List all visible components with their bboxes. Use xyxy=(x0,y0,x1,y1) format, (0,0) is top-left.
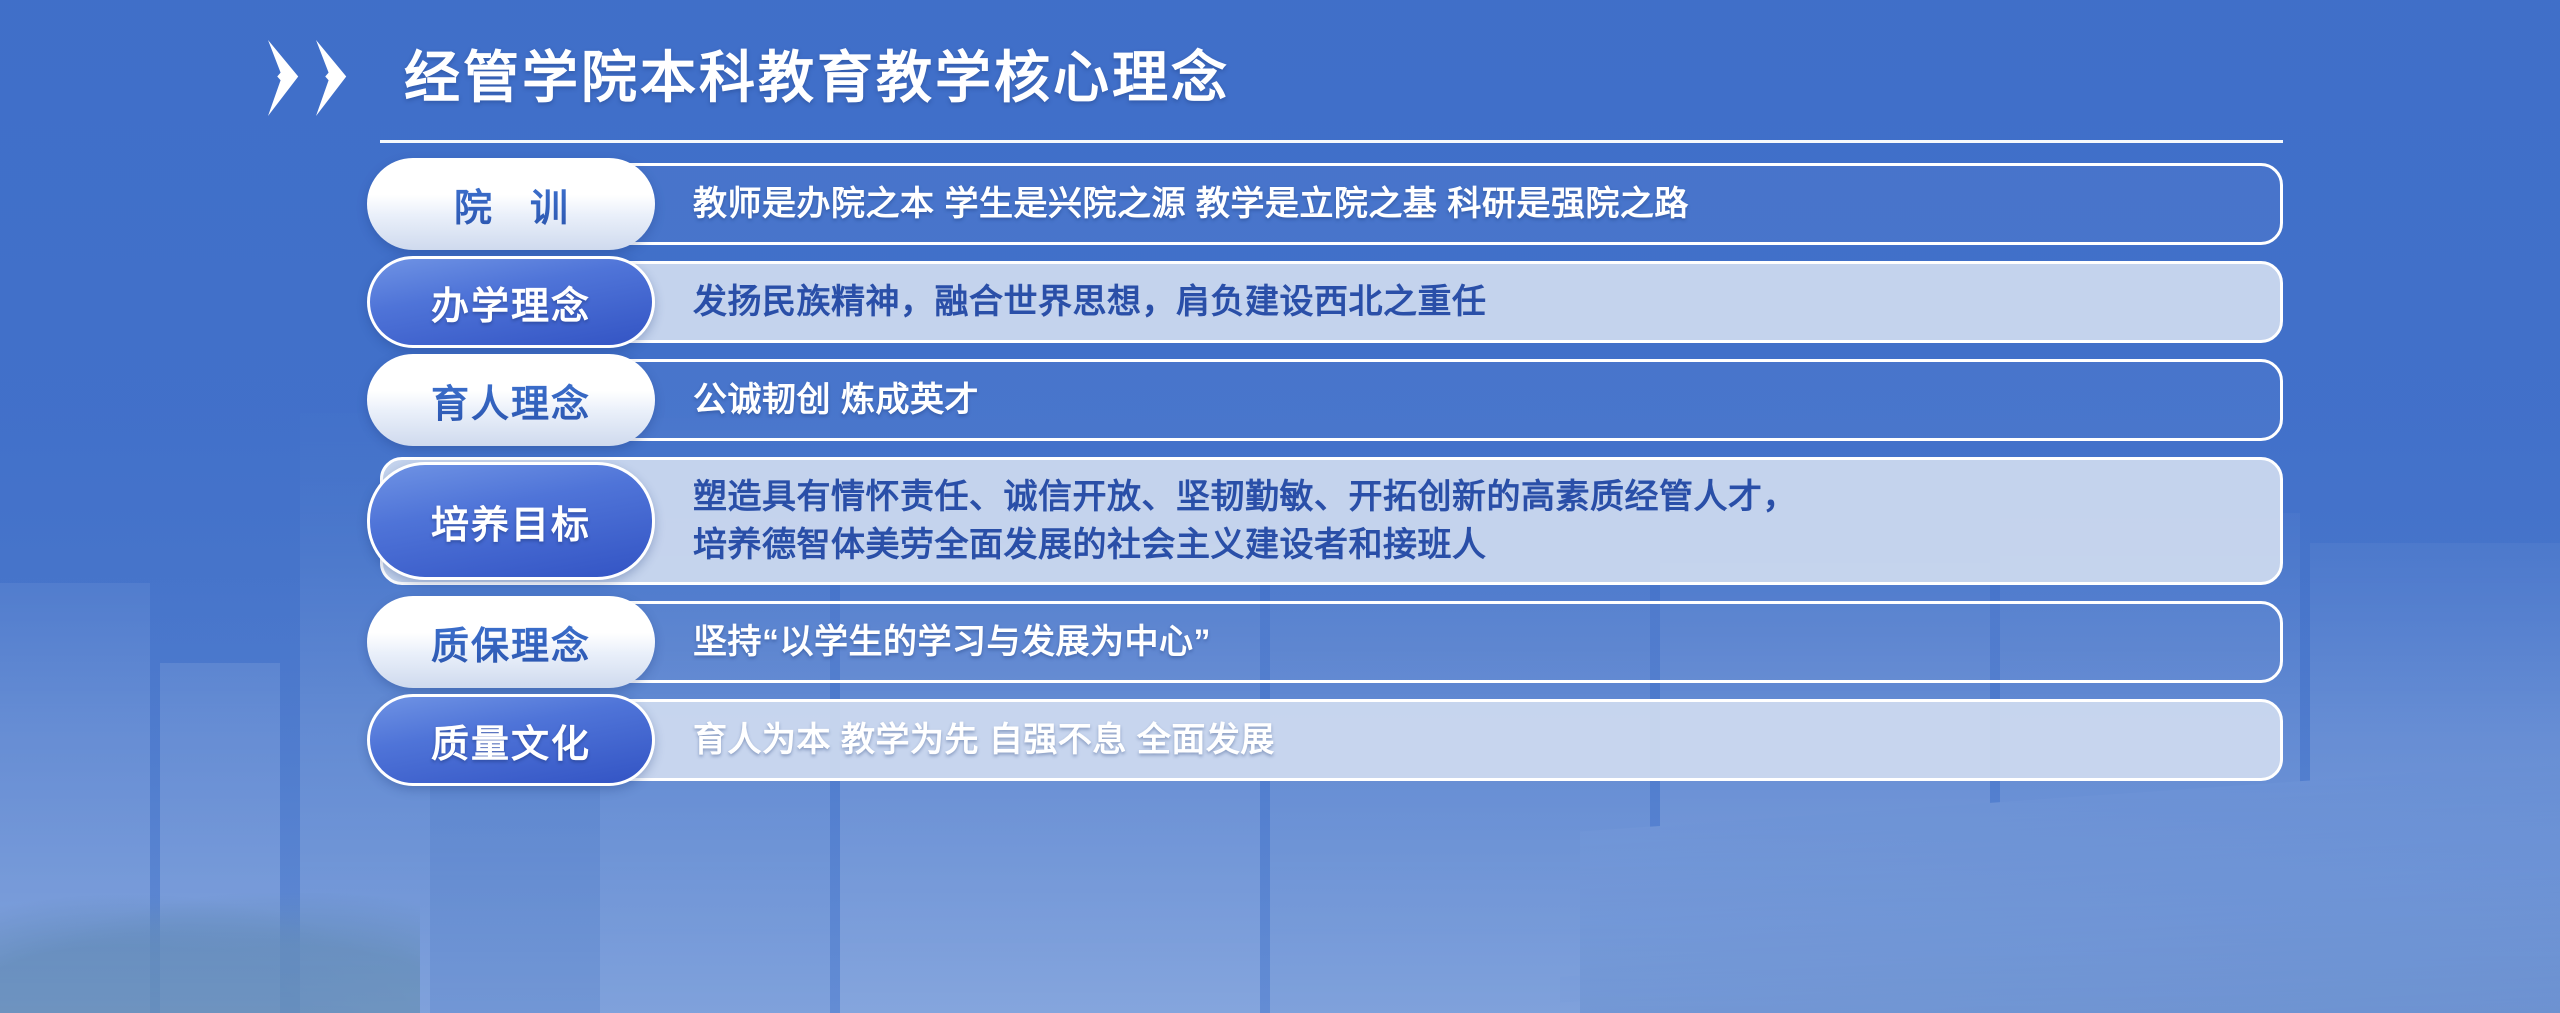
concept-label-text: 育人理念 xyxy=(431,373,591,428)
concept-content-line: 坚持“以学生的学习与发展为中心” xyxy=(693,618,1211,666)
concept-content: 坚持“以学生的学习与发展为中心” xyxy=(693,618,1241,666)
concept-label-text: 质量文化 xyxy=(431,713,591,768)
concept-label-badge[interactable]: 育人理念 xyxy=(367,354,655,446)
concept-content-line: 塑造具有情怀责任、诚信开放、坚韧勤敏、开拓创新的高素质经管人才， xyxy=(693,473,1797,521)
concept-label-text: 办学理念 xyxy=(431,275,591,330)
concept-content: 教师是办院之本 学生是兴院之源 教学是立院之基 科研是强院之路 xyxy=(693,180,1719,228)
concept-row[interactable]: 育人理念 公诚韧创 炼成英才 xyxy=(380,359,2283,441)
concept-label-text: 院训 xyxy=(416,177,606,232)
page-title: 经管学院本科教育教学核心理念 xyxy=(404,50,1230,106)
chevron-right-icon-2 xyxy=(316,40,358,116)
concept-content-line: 发扬民族精神，融合世界思想，肩负建设西北之重任 xyxy=(693,278,1487,326)
concept-content: 育人为本 教学为先 自强不息 全面发展 xyxy=(693,716,1305,764)
concept-content: 发扬民族精神，融合世界思想，肩负建设西北之重任 xyxy=(693,278,1517,326)
concept-row[interactable]: 院训 教师是办院之本 学生是兴院之源 教学是立院之基 科研是强院之路 xyxy=(380,163,2283,245)
concept-content-line: 公诚韧创 炼成英才 xyxy=(693,376,979,424)
concept-label-text: 培养目标 xyxy=(431,494,591,549)
concept-row[interactable]: 培养目标 塑造具有情怀责任、诚信开放、坚韧勤敏、开拓创新的高素质经管人才， 培养… xyxy=(380,457,2283,585)
concept-label-badge[interactable]: 质量文化 xyxy=(367,694,655,786)
concept-content-line: 教师是办院之本 学生是兴院之源 教学是立院之基 科研是强院之路 xyxy=(693,180,1689,228)
page-header: 经管学院本科教育教学核心理念 xyxy=(268,40,1230,116)
concept-row[interactable]: 质保理念 坚持“以学生的学习与发展为中心” xyxy=(380,601,2283,683)
concept-row[interactable]: 办学理念 发扬民族精神，融合世界思想，肩负建设西北之重任 xyxy=(380,261,2283,343)
concept-label-text: 质保理念 xyxy=(431,615,591,670)
concept-label-badge[interactable]: 培养目标 xyxy=(367,462,655,580)
concept-row[interactable]: 质量文化 育人为本 教学为先 自强不息 全面发展 xyxy=(380,699,2283,781)
concept-label-badge[interactable]: 院训 xyxy=(367,158,655,250)
concept-label-badge[interactable]: 质保理念 xyxy=(367,596,655,688)
concept-label-badge[interactable]: 办学理念 xyxy=(367,256,655,348)
concept-list: 院训 教师是办院之本 学生是兴院之源 教学是立院之基 科研是强院之路 办学理念 … xyxy=(380,163,2283,797)
concept-content-line: 培养德智体美劳全面发展的社会主义建设者和接班人 xyxy=(693,521,1797,569)
double-chevron-right-icon xyxy=(268,40,358,116)
concept-content-line: 育人为本 教学为先 自强不息 全面发展 xyxy=(693,716,1275,764)
concept-content: 塑造具有情怀责任、诚信开放、坚韧勤敏、开拓创新的高素质经管人才， 培养德智体美劳… xyxy=(693,473,1827,570)
chevron-right-icon-1 xyxy=(268,40,310,116)
concept-content: 公诚韧创 炼成英才 xyxy=(693,376,1009,424)
title-underline xyxy=(380,140,2283,143)
